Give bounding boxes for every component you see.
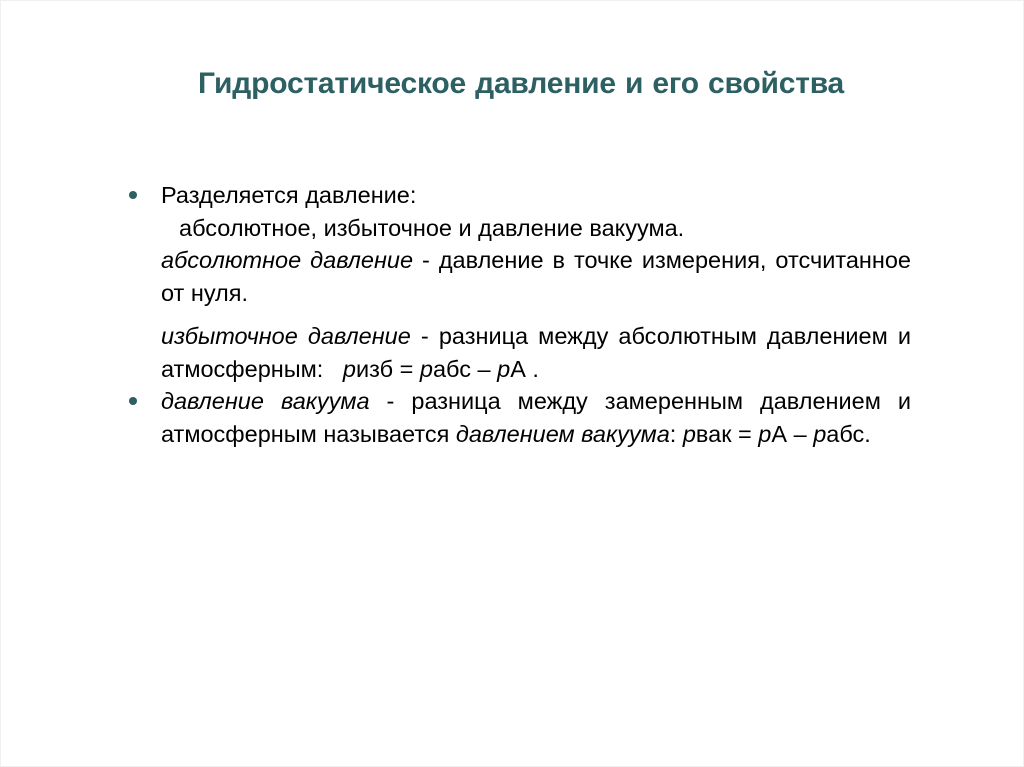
formula-vak-term1-symbol: р xyxy=(758,421,771,447)
formula-izb-tail: . xyxy=(526,356,539,382)
formula-vak-equals: = xyxy=(732,421,759,447)
formula-izb-equals: = xyxy=(393,356,420,382)
vacuum-pressure-emphasis: давлением вакуума xyxy=(456,421,670,447)
bullet-dot-icon xyxy=(129,191,137,199)
formula-izb-term1-subscript: абс xyxy=(433,356,471,382)
bullet-item-1: Разделяется давление: абсолютное, избыто… xyxy=(121,179,911,385)
bullet-dot-icon xyxy=(129,397,137,405)
formula-vak-term2-subscript: абс. xyxy=(826,421,871,447)
formula-spacer xyxy=(323,356,343,382)
slide: Гидростатическое давление и его свойства… xyxy=(0,0,1024,767)
bullet-1-lead-text: Разделяется давление: xyxy=(161,179,911,212)
vacuum-pressure-paragraph: давление вакуума - разница между замерен… xyxy=(161,385,911,450)
absolute-pressure-paragraph: абсолютное давление - давление в точке и… xyxy=(161,244,911,309)
vacuum-pressure-formula: рвак = рА – рабс. xyxy=(683,421,871,447)
formula-izb-term2-symbol: р xyxy=(497,356,510,382)
formula-vak-lhs-subscript: вак xyxy=(696,421,732,447)
gauge-pressure-formula: ризб = рабс – рА . xyxy=(343,356,539,382)
formula-vak-term2-symbol: р xyxy=(813,421,826,447)
bullet-item-2: давление вакуума - разница между замерен… xyxy=(121,385,911,450)
formula-izb-minus: – xyxy=(471,356,497,382)
pressure-types-text: абсолютное, избыточное и давление вакуум… xyxy=(179,215,684,241)
absolute-pressure-term: абсолютное давление xyxy=(161,247,413,273)
page-title: Гидростатическое давление и его свойства xyxy=(151,65,891,103)
pressure-types-paragraph: абсолютное, избыточное и давление вакуум… xyxy=(161,212,911,245)
vacuum-pressure-colon: : xyxy=(670,421,683,447)
vacuum-pressure-term: давление вакуума xyxy=(161,388,370,414)
gauge-pressure-term: избыточное давление xyxy=(161,323,411,349)
formula-vak-minus: – xyxy=(787,421,813,447)
gauge-pressure-paragraph: избыточное давление - разница между абсо… xyxy=(161,320,911,385)
body-content: Разделяется давление: абсолютное, избыто… xyxy=(121,179,911,450)
formula-izb-term1-symbol: р xyxy=(420,356,433,382)
title-block: Гидростатическое давление и его свойства xyxy=(151,65,891,103)
formula-vak-lhs-symbol: р xyxy=(683,421,696,447)
formula-izb-term2-subscript: А xyxy=(510,356,526,382)
formula-vak-term1-subscript: А xyxy=(771,421,787,447)
formula-izb-lhs-symbol: р xyxy=(343,356,356,382)
formula-izb-lhs-subscript: изб xyxy=(356,356,393,382)
